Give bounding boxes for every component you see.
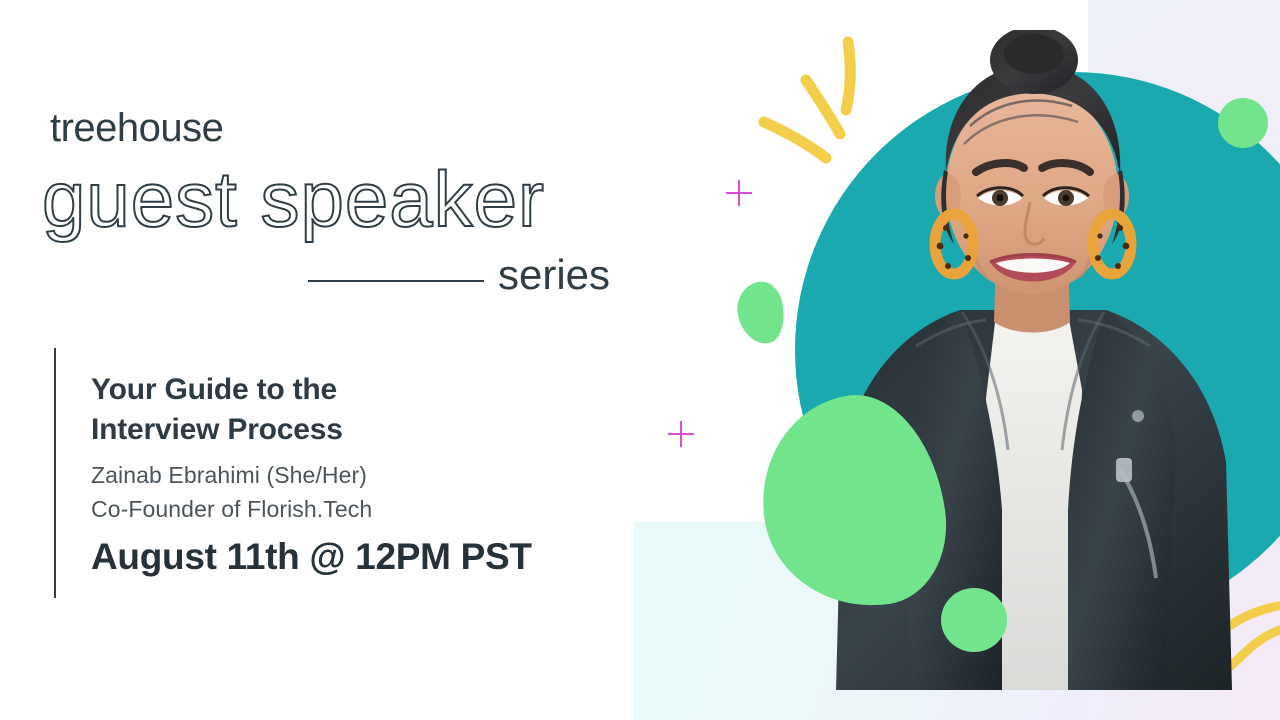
vertical-accent-rule	[54, 348, 56, 598]
plus-mark-icon	[726, 180, 752, 206]
speaker-name: Zainab Ebrahimi (She/Her)	[91, 463, 367, 488]
brand-wordmark: treehouse	[50, 108, 223, 148]
green-blob-small-shape	[732, 278, 790, 348]
speaker-role: Co-Founder of Florish.Tech	[91, 497, 372, 522]
talk-title: Your Guide to the Interview Process	[91, 370, 343, 449]
green-dot-shape	[941, 588, 1007, 652]
plus-mark-icon	[668, 421, 694, 447]
series-label: series	[498, 254, 610, 296]
headline-outline-text: guest speaker	[42, 160, 545, 238]
promo-slide: treehouse guest speaker series Your Guid…	[0, 0, 1280, 720]
talk-title-line-2: Interview Process	[91, 410, 343, 450]
talk-title-line-1: Your Guide to the	[91, 370, 343, 410]
series-divider-rule	[308, 280, 484, 282]
event-datetime: August 11th @ 12PM PST	[91, 538, 532, 577]
